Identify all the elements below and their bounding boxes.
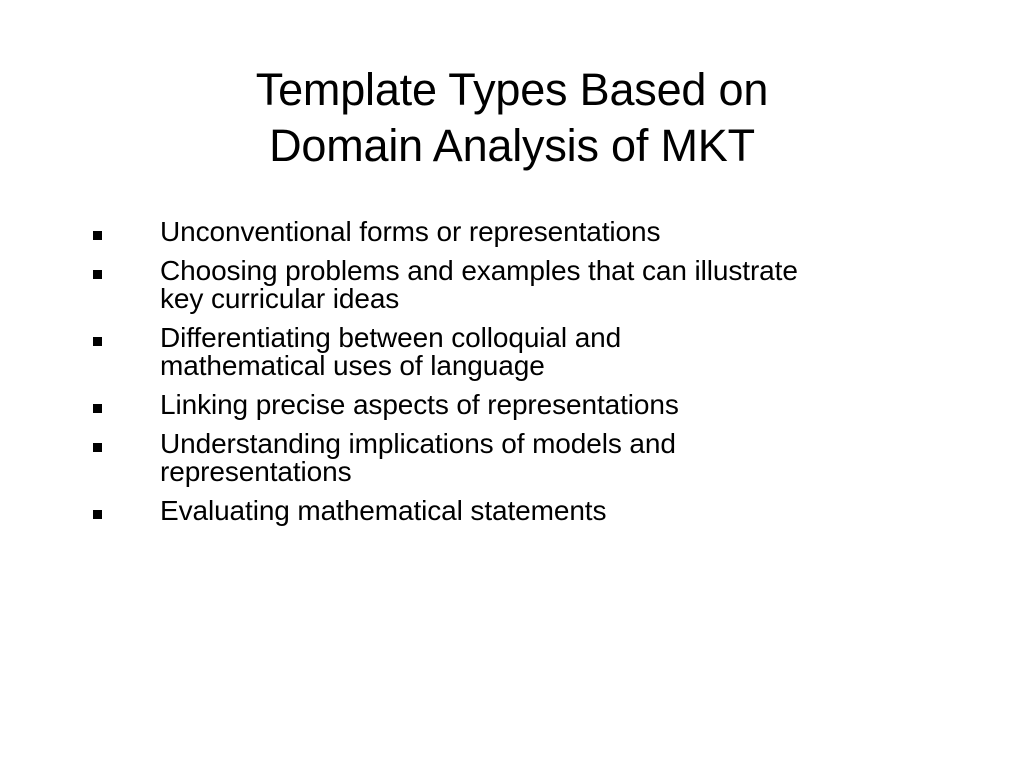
square-bullet-icon [93,231,102,240]
bullet-list-item-text: Differentiating between colloquial and m… [160,324,760,380]
slide-canvas: Template Types Based on Domain Analysis … [0,0,1024,768]
slide-title: Template Types Based on Domain Analysis … [0,62,1024,174]
bullet-list-item-text: Unconventional forms or representations [160,218,832,246]
bullet-list-item-text: Linking precise aspects of representatio… [160,391,832,419]
bullet-list-item: Choosing problems and examples that can … [88,257,848,313]
bullet-list-item: Linking precise aspects of representatio… [88,391,848,419]
slide-title-line-1: Template Types Based on [0,62,1024,118]
square-bullet-icon [93,510,102,519]
bullet-list-item: Understanding implications of models and… [88,430,848,486]
slide-title-line-2: Domain Analysis of MKT [0,118,1024,174]
bullet-list-item: Evaluating mathematical statements [88,497,848,525]
square-bullet-icon [93,404,102,413]
bullet-list-item: Differentiating between colloquial and m… [88,324,848,380]
slide-body-bullet-list: Unconventional forms or representations … [88,218,848,525]
bullet-list-item-text: Choosing problems and examples that can … [160,257,832,313]
bullet-list-item-text: Understanding implications of models and… [160,430,760,486]
bullet-list-item-text: Evaluating mathematical statements [160,497,832,525]
square-bullet-icon [93,337,102,346]
square-bullet-icon [93,443,102,452]
bullet-list-item: Unconventional forms or representations [88,218,848,246]
square-bullet-icon [93,270,102,279]
